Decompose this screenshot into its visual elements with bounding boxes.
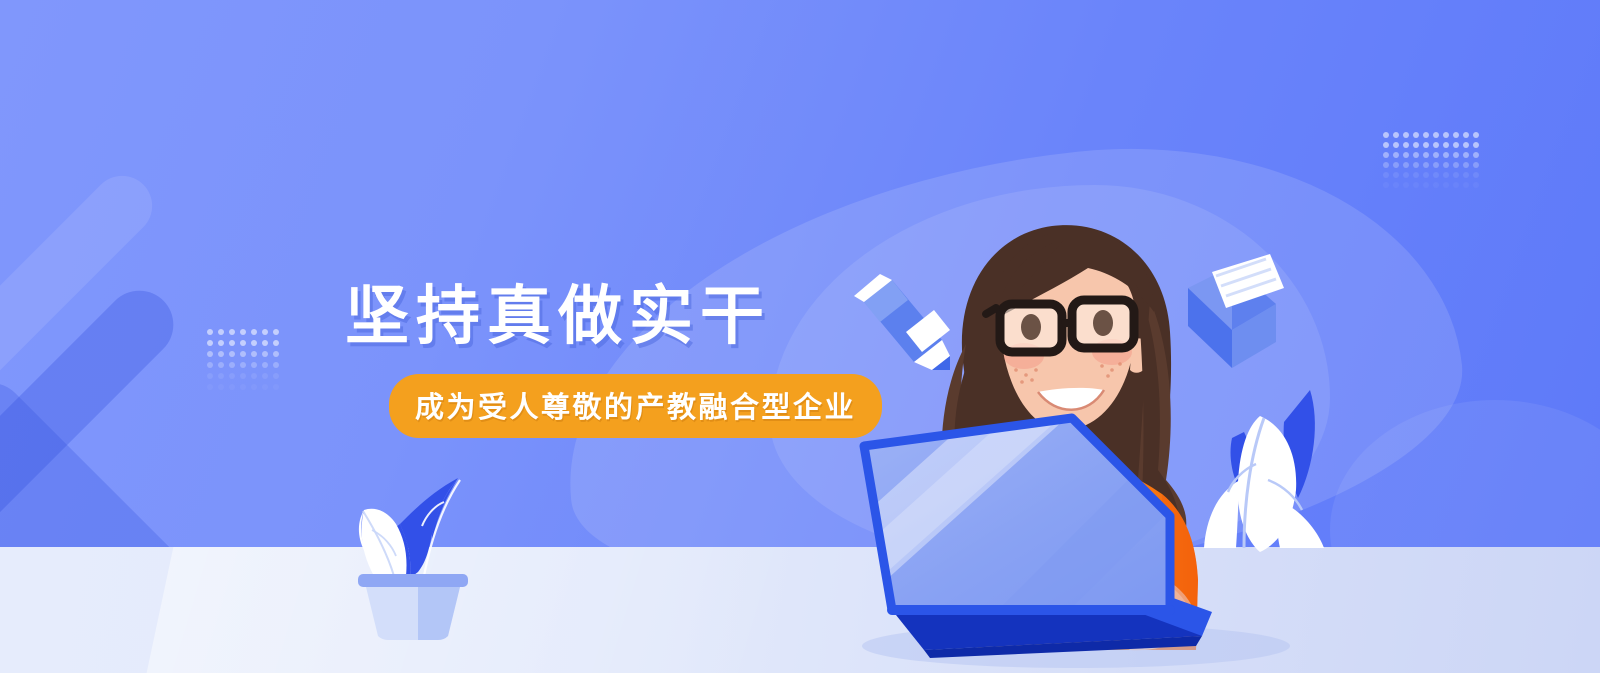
grid-dot	[1443, 172, 1449, 178]
grid-dot	[1393, 132, 1399, 138]
grid-dot	[251, 351, 257, 357]
grid-dot	[273, 329, 279, 335]
grid-dot	[218, 384, 224, 390]
grid-dot	[1383, 132, 1389, 138]
grid-dot	[1453, 152, 1459, 158]
grid-dot	[1473, 132, 1479, 138]
grid-dot	[1413, 152, 1419, 158]
grid-dot	[240, 340, 246, 346]
grid-dot	[1463, 172, 1469, 178]
leaves-right	[1204, 390, 1324, 552]
grid-dot	[1423, 162, 1429, 168]
grid-dot	[1473, 142, 1479, 148]
grid-dot	[1403, 152, 1409, 158]
grid-dot	[218, 351, 224, 357]
grid-dot	[240, 384, 246, 390]
grid-dot	[1473, 172, 1479, 178]
grid-dot	[207, 373, 213, 379]
grid-dot	[1383, 152, 1389, 158]
grid-dot	[262, 362, 268, 368]
grid-dot	[207, 362, 213, 368]
grid-dot	[1433, 132, 1439, 138]
grid-dot	[1393, 152, 1399, 158]
grid-dot	[229, 362, 235, 368]
grid-dot	[1413, 172, 1419, 178]
grid-dot	[1473, 182, 1479, 188]
grid-dot	[240, 362, 246, 368]
grid-dot	[273, 373, 279, 379]
grid-dot	[1463, 152, 1469, 158]
grid-dot	[1393, 172, 1399, 178]
grid-dot	[1453, 162, 1459, 168]
grid-dot	[218, 329, 224, 335]
grid-dot	[251, 329, 257, 335]
grid-dot	[1453, 172, 1459, 178]
grid-dot	[273, 362, 279, 368]
grid-dot	[262, 329, 268, 335]
grid-dot	[207, 351, 213, 357]
grid-dot	[1383, 142, 1389, 148]
subtitle-pill: 成为受人尊敬的产教融合型企业	[389, 374, 882, 438]
grid-dot	[229, 340, 235, 346]
envelope-icon	[1188, 254, 1284, 368]
grid-dot	[207, 329, 213, 335]
grid-dot	[229, 384, 235, 390]
grid-dot	[218, 362, 224, 368]
grid-dot	[1433, 162, 1439, 168]
pencil-icon	[854, 274, 950, 370]
grid-dot	[1433, 142, 1439, 148]
grid-dot	[262, 373, 268, 379]
eyeglasses	[986, 300, 1134, 352]
grid-dot	[1403, 172, 1409, 178]
page-title: 坚持真做实干	[345, 283, 865, 350]
grid-dot	[251, 373, 257, 379]
grid-dot	[1463, 162, 1469, 168]
grid-dot	[1423, 152, 1429, 158]
grid-dot	[1443, 162, 1449, 168]
grid-dot	[240, 329, 246, 335]
grid-dot	[240, 351, 246, 357]
grid-dot	[1443, 142, 1449, 148]
grid-dot	[1453, 132, 1459, 138]
grid-dot	[1413, 132, 1419, 138]
grid-dot	[1463, 182, 1469, 188]
grid-dot	[1423, 132, 1429, 138]
grid-dot	[1463, 142, 1469, 148]
grid-dot	[1393, 162, 1399, 168]
potted-plant-left	[340, 450, 490, 640]
woman-working-on-laptop-illustration	[840, 180, 1460, 673]
grid-dot	[207, 384, 213, 390]
grid-dot	[218, 340, 224, 346]
grid-dot	[273, 340, 279, 346]
grid-dot	[1383, 172, 1389, 178]
grid-dot	[1473, 152, 1479, 158]
grid-dot	[207, 340, 213, 346]
grid-dot	[1453, 142, 1459, 148]
grid-dot	[1463, 132, 1469, 138]
hero-copy: 坚持真做实干 成为受人尊敬的产教融合型企业	[345, 283, 865, 438]
grid-dot	[229, 351, 235, 357]
grid-dot	[1443, 132, 1449, 138]
grid-dot	[251, 340, 257, 346]
grid-dot	[1423, 172, 1429, 178]
grid-dot	[1403, 132, 1409, 138]
grid-dot	[251, 384, 257, 390]
grid-dot	[262, 384, 268, 390]
grid-dot	[229, 373, 235, 379]
grid-dot	[1443, 152, 1449, 158]
grid-dot	[1403, 142, 1409, 148]
grid-dot	[1413, 162, 1419, 168]
hero-banner: 坚持真做实干 成为受人尊敬的产教融合型企业	[0, 0, 1600, 673]
grid-dot	[1413, 142, 1419, 148]
grid-dot	[1383, 162, 1389, 168]
grid-dot	[262, 340, 268, 346]
grid-dot	[1433, 152, 1439, 158]
dot-grid-icon-left	[205, 327, 282, 393]
grid-dot	[273, 384, 279, 390]
grid-dot	[262, 351, 268, 357]
grid-dot	[218, 373, 224, 379]
grid-dot	[1473, 162, 1479, 168]
grid-dot	[1393, 142, 1399, 148]
grid-dot	[1423, 142, 1429, 148]
grid-dot	[1403, 162, 1409, 168]
grid-dot	[273, 351, 279, 357]
grid-dot	[229, 329, 235, 335]
grid-dot	[240, 373, 246, 379]
grid-dot	[1433, 172, 1439, 178]
grid-dot	[251, 362, 257, 368]
